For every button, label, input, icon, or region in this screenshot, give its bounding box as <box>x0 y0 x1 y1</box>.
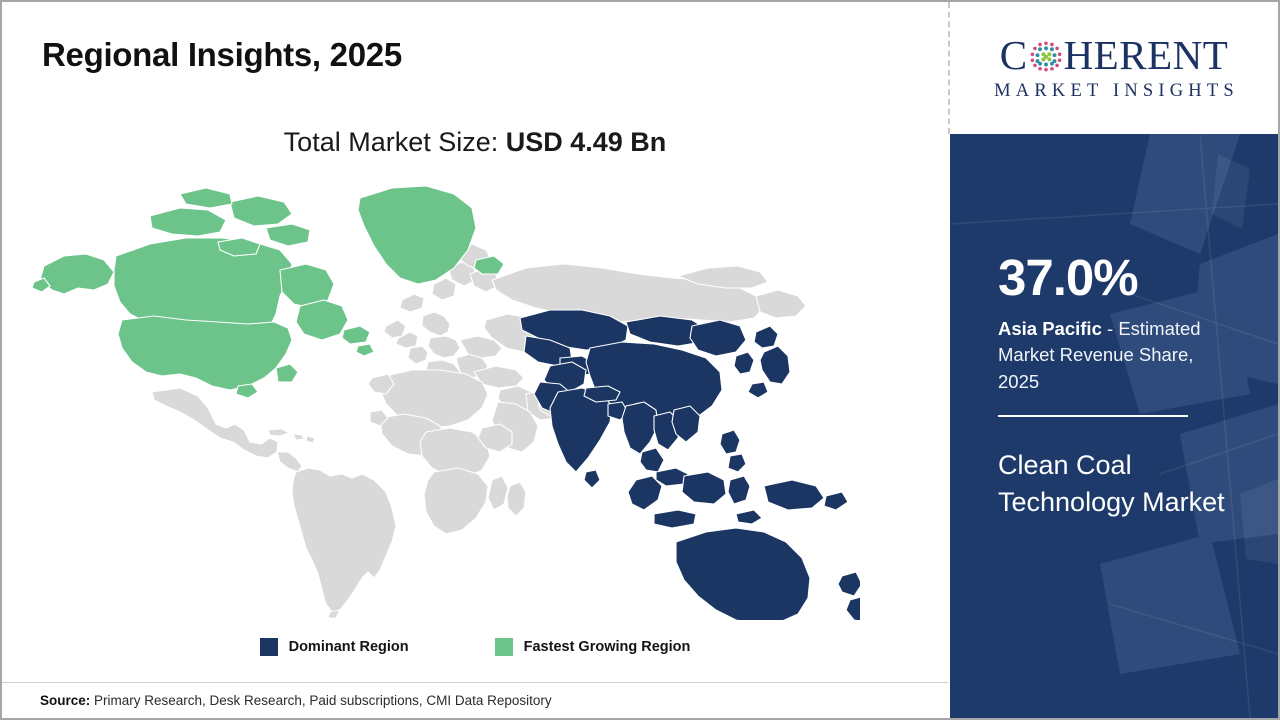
market-size-value: USD 4.49 Bn <box>506 127 667 157</box>
legend-label-fastest-growing: Fastest Growing Region <box>524 639 691 655</box>
market-name: Clean Coal Technology Market <box>998 447 1238 522</box>
dotted-globe-icon <box>1029 39 1063 73</box>
map-legend: Dominant Region Fastest Growing Region <box>2 638 948 656</box>
legend-swatch-fastest-growing <box>495 638 513 656</box>
stat-panel: 37.0% Asia Pacific - Estimated Market Re… <box>950 134 1278 718</box>
panel-content: 37.0% Asia Pacific - Estimated Market Re… <box>998 252 1238 521</box>
source-text: Source: Primary Research, Desk Research,… <box>40 693 552 708</box>
stat-region-name: Asia Pacific <box>998 318 1102 339</box>
logo-text-herent: HERENT <box>1064 35 1229 76</box>
source-bar: Source: Primary Research, Desk Research,… <box>2 682 948 718</box>
stat-description: Asia Pacific - Estimated Market Revenue … <box>998 316 1238 395</box>
panel-divider-rule <box>998 415 1188 417</box>
legend-item-dominant: Dominant Region <box>260 638 409 656</box>
left-panel: Regional Insights, 2025 Total Market Siz… <box>2 2 948 718</box>
source-value: Primary Research, Desk Research, Paid su… <box>90 693 551 708</box>
legend-item-fastest-growing: Fastest Growing Region <box>495 638 691 656</box>
legend-label-dominant: Dominant Region <box>289 639 409 655</box>
logo-letter-c: C <box>1000 35 1028 76</box>
stat-percent: 37.0% <box>998 252 1238 303</box>
total-market-size: Total Market Size: USD 4.49 Bn <box>2 127 948 158</box>
world-map-svg <box>30 180 860 620</box>
source-label: Source: <box>40 693 90 708</box>
brand-logo: C <box>950 2 1278 134</box>
market-size-label: Total Market Size: <box>284 127 506 157</box>
logo-wordmark: C <box>1000 35 1229 76</box>
map-dominant-regions <box>520 310 860 620</box>
legend-swatch-dominant <box>260 638 278 656</box>
logo-subtitle: MARKET INSIGHTS <box>989 81 1239 102</box>
world-map <box>30 180 860 620</box>
infographic-canvas: Regional Insights, 2025 Total Market Siz… <box>0 0 1280 720</box>
right-column: C <box>950 2 1278 718</box>
page-title: Regional Insights, 2025 <box>42 36 402 74</box>
